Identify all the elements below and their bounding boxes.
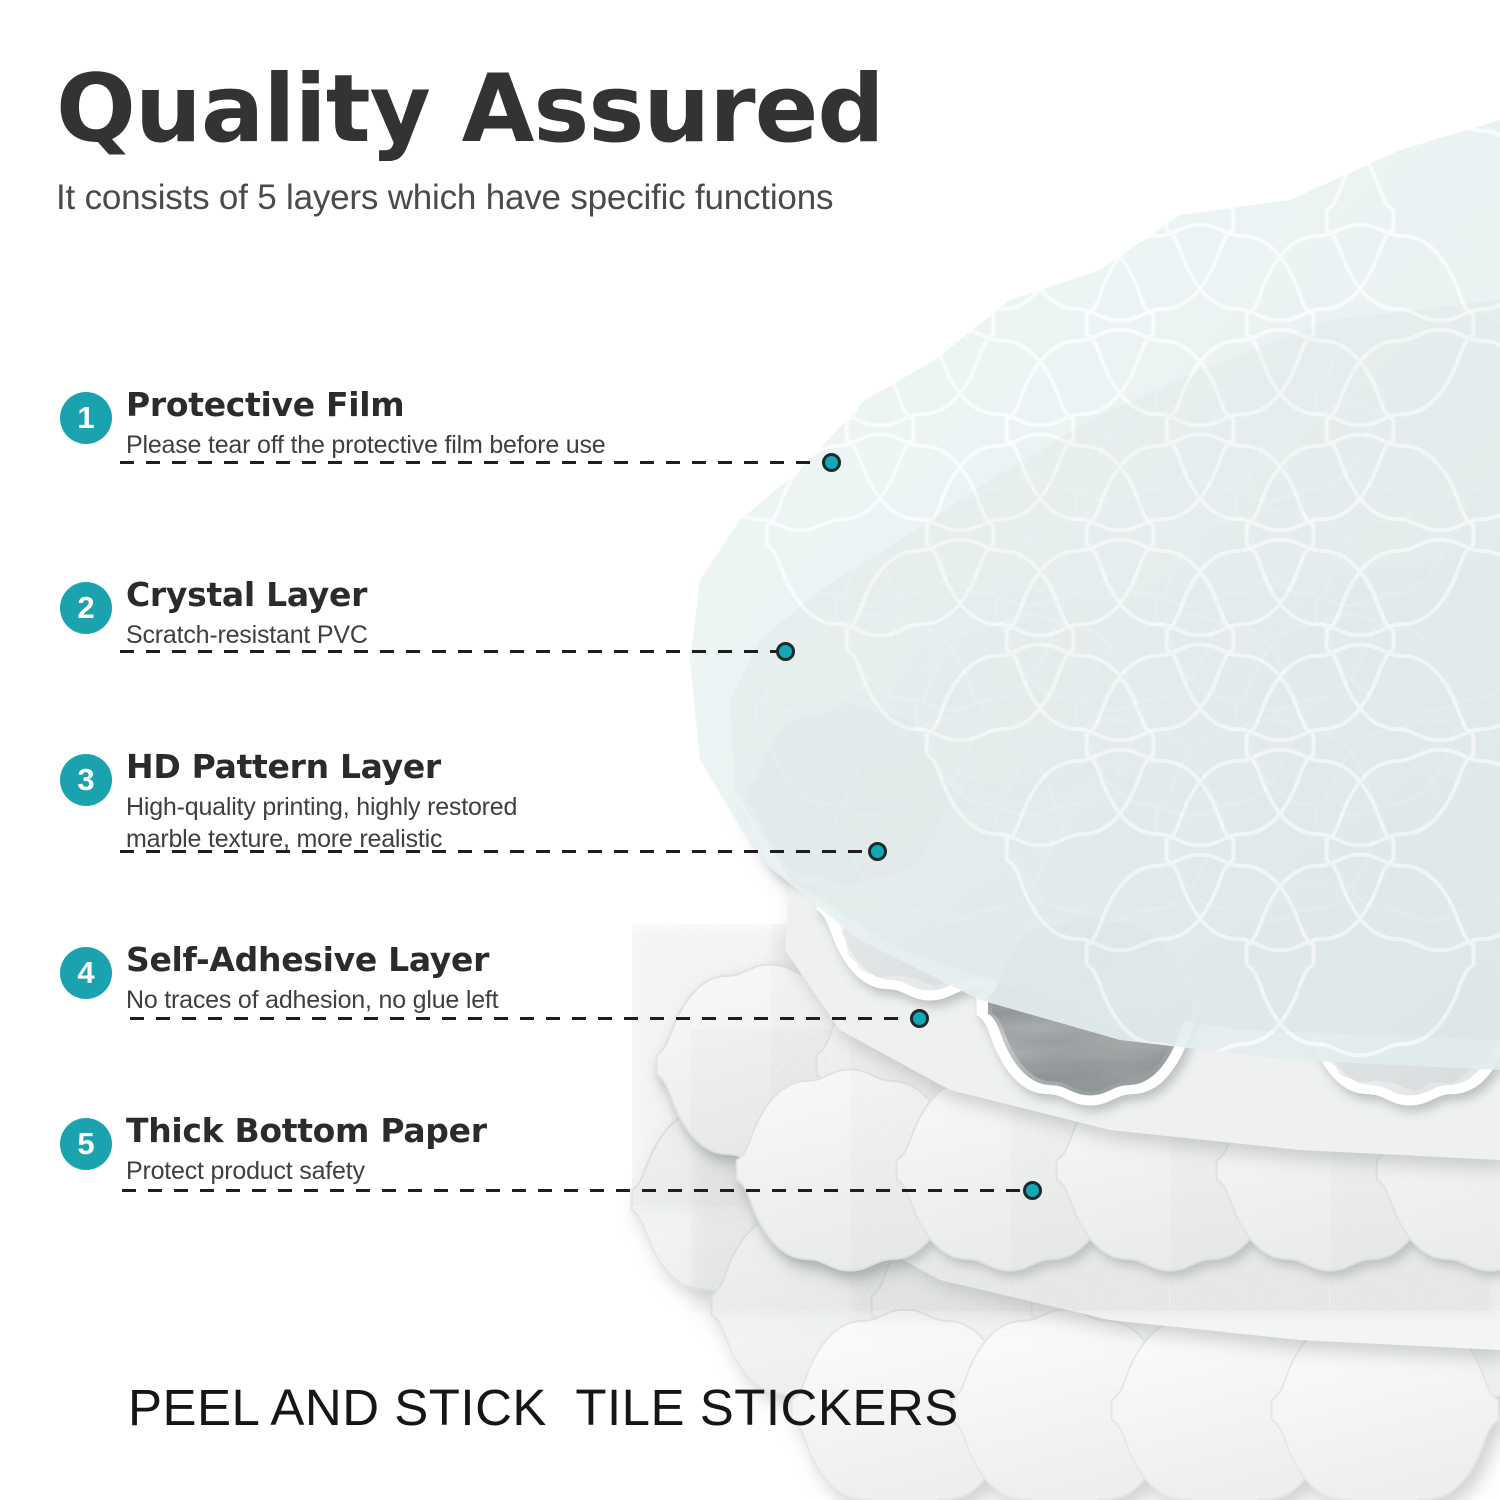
page-header: Quality Assured It consists of 5 layers … bbox=[56, 62, 1056, 218]
layer-title-3: HD Pattern Layer bbox=[126, 748, 517, 787]
layer-desc-4: No traces of adhesion, no glue left bbox=[126, 984, 498, 1016]
layer-desc-1: Please tear off the protective film befo… bbox=[126, 429, 606, 461]
leader-dash-5 bbox=[122, 1189, 1033, 1192]
layer-badge-2: 2 bbox=[60, 582, 112, 634]
layer-callout-1: 1 Protective Film Please tear off the pr… bbox=[60, 386, 606, 461]
layer-sheet-hd-pattern bbox=[737, 540, 1500, 1180]
leader-line-1 bbox=[120, 461, 832, 464]
footer-caption: PEEL AND STICK TILE STICKERS bbox=[128, 1378, 959, 1437]
layer-title-1: Protective Film bbox=[126, 386, 606, 425]
leader-endpoint-dot-2 bbox=[776, 642, 795, 661]
leader-dash-2 bbox=[120, 650, 786, 653]
layer-callout-4: 4 Self-Adhesive Layer No traces of adhes… bbox=[60, 941, 498, 1016]
layer-badge-5: 5 bbox=[60, 1118, 112, 1170]
layer-desc-5: Protect product safety bbox=[126, 1155, 487, 1187]
layer-sheet-crystal bbox=[677, 280, 1500, 1070]
layer-callout-3: 3 HD Pattern Layer High-quality printing… bbox=[60, 748, 517, 855]
layer-desc-3: High-quality printing, highly restored m… bbox=[126, 791, 517, 855]
leader-line-2 bbox=[120, 650, 786, 653]
layer-badge-3: 3 bbox=[60, 754, 112, 806]
layer-badge-4: 4 bbox=[60, 947, 112, 999]
layer-callout-2: 2 Crystal Layer Scratch-resistant PVC bbox=[60, 576, 368, 651]
leader-endpoint-dot-5 bbox=[1023, 1181, 1042, 1200]
leader-line-3 bbox=[120, 850, 878, 853]
leader-line-4 bbox=[130, 1017, 920, 1020]
leader-endpoint-dot-3 bbox=[868, 842, 887, 861]
leader-line-5 bbox=[122, 1189, 1033, 1192]
layer-sheet-self-adhesive bbox=[657, 780, 1500, 1400]
layer-callout-5: 5 Thick Bottom Paper Protect product saf… bbox=[60, 1112, 487, 1187]
leader-dash-4 bbox=[130, 1017, 920, 1020]
layer-desc-2: Scratch-resistant PVC bbox=[126, 619, 368, 651]
leader-dash-1 bbox=[120, 461, 832, 464]
page-title: Quality Assured bbox=[56, 62, 1056, 158]
leader-endpoint-dot-1 bbox=[822, 453, 841, 472]
layer-title-2: Crystal Layer bbox=[126, 576, 368, 615]
layer-sheet-protective-film bbox=[680, 100, 1500, 1090]
layer-sheet-bottom-paper bbox=[632, 1100, 1500, 1500]
layer-badge-1: 1 bbox=[60, 392, 112, 444]
layer-title-5: Thick Bottom Paper bbox=[126, 1112, 487, 1151]
page-subtitle: It consists of 5 layers which have speci… bbox=[56, 178, 1056, 218]
layer-title-4: Self-Adhesive Layer bbox=[126, 941, 498, 980]
leader-dash-3 bbox=[120, 850, 878, 853]
leader-endpoint-dot-4 bbox=[910, 1009, 929, 1028]
